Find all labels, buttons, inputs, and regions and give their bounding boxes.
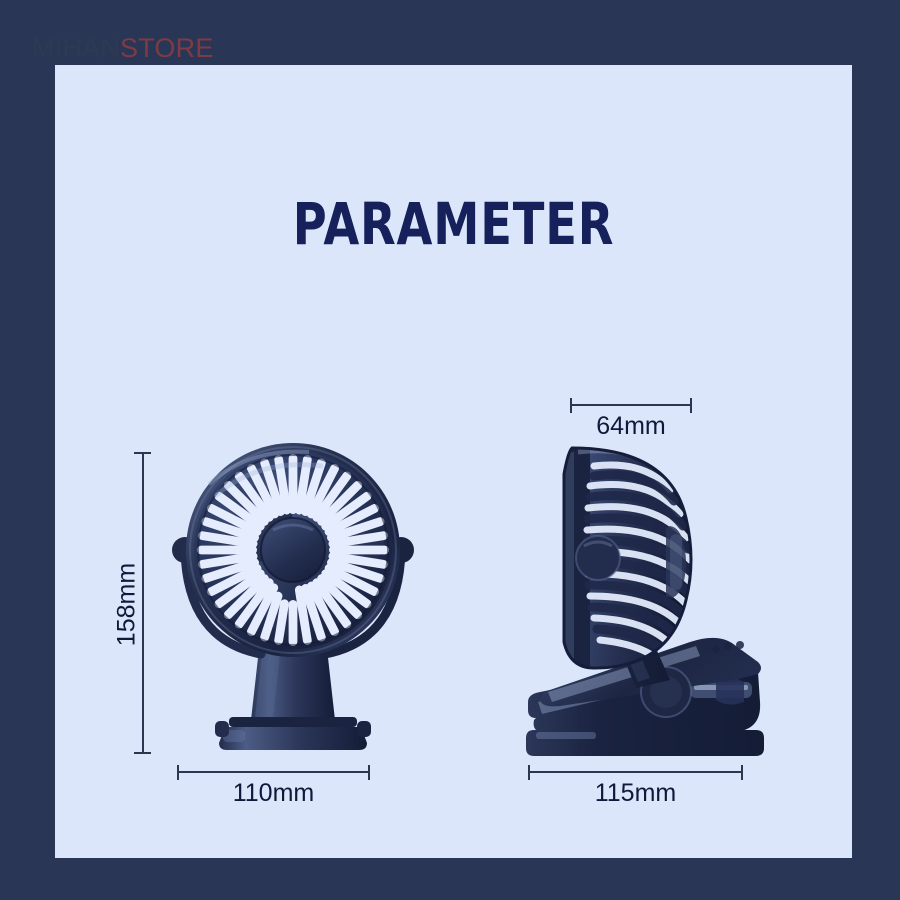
dimension-158mm-line: [142, 452, 144, 753]
front-base: [215, 717, 371, 750]
side-view-product-image: [520, 430, 770, 770]
dimension-64mm-line: [570, 404, 692, 406]
front-view-product-image: [163, 440, 423, 770]
watermark: MIHANSTORE: [32, 33, 214, 64]
dimension-158mm-cap-top: [134, 452, 151, 454]
dimension-115mm-cap-right: [741, 765, 743, 780]
dimension-64mm-label: 64mm: [570, 412, 692, 441]
dimension-110mm-cap-right: [368, 765, 370, 780]
watermark-brand-first: MIHAN: [32, 33, 120, 63]
dimension-115mm-cap-left: [528, 765, 530, 780]
dimension-110mm-cap-left: [177, 765, 179, 780]
dimension-115mm-line: [528, 771, 743, 773]
spec-panel: PARAMETER: [55, 65, 852, 858]
side-clip-base: [526, 730, 764, 756]
dimension-158mm-label: 158mm: [113, 545, 142, 665]
dimension-64mm-cap-left: [570, 398, 572, 413]
dimension-110mm-line: [177, 771, 370, 773]
page-title: PARAMETER: [135, 193, 773, 255]
image-canvas: MIHANSTORE PARAMETER: [0, 0, 900, 900]
dimension-115mm-label: 115mm: [528, 779, 743, 808]
watermark-brand-second: STORE: [120, 33, 214, 63]
dimension-110mm-label: 110mm: [177, 779, 370, 808]
dimension-64mm-cap-right: [690, 398, 692, 413]
dimension-158mm-cap-bottom: [134, 752, 151, 754]
